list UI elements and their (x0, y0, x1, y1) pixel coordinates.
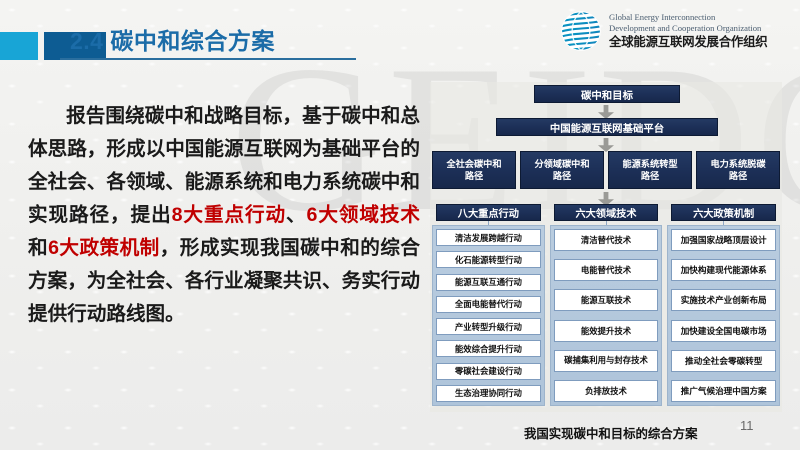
diagram-column-actions: 八大重点行动 清洁发展跨越行动 化石能源转型行动 能源互联互通行动 全面电能替代… (432, 204, 545, 406)
list-item: 加快建设全国电碳市场 (671, 320, 776, 342)
logo-chinese-name: 全球能源互联网发展合作组织 (609, 35, 767, 50)
paragraph-highlight-policies: 6大政策机制 (48, 237, 160, 259)
figure-caption: 我国实现碳中和目标的综合方案 (524, 424, 697, 442)
diagram-column-technologies: 六大领域技术 清洁替代技术 电能替代技术 能源互联技术 能效提升技术 碳捕集利用… (550, 204, 663, 406)
list-item: 零碳社会建设行动 (436, 363, 541, 380)
list-item: 加强国家战略顶层设计 (671, 229, 776, 251)
title-underline-rule (60, 58, 356, 60)
page-title: 2.4 碳中和综合方案 (70, 22, 275, 56)
arrow-down-icon (598, 105, 614, 119)
list-item: 生态治理协同行动 (436, 385, 541, 402)
body-paragraph: 报告围绕碳中和战略目标，基于碳中和总体思路，形成以中国能源互联网为基础平台的全社… (28, 100, 420, 331)
diagram-node-path: 电力系统脱碳路径 (696, 151, 780, 189)
page-number: 11 (740, 418, 754, 433)
list-item: 加快构建现代能源体系 (671, 259, 776, 281)
path-label-line1: 能源系统转型 (622, 158, 677, 170)
diagram-path-row: 全社会碳中和路径 分领域碳中和路径 能源系统转型路径 电力系统脱碳路径 (432, 151, 780, 189)
path-label-line1: 电力系统脱碳 (710, 158, 765, 170)
header-accent-square-light (0, 32, 38, 60)
diagram-node-path: 分领域碳中和路径 (520, 151, 604, 189)
list-item: 推广气候治理中国方案 (671, 380, 776, 402)
paragraph-highlight-actions: 8大重点行动 (172, 204, 286, 226)
arrow-down-icon (598, 138, 614, 152)
list-item: 能源互联技术 (554, 289, 659, 311)
list-item: 化石能源转型行动 (436, 251, 541, 268)
path-label-line2: 路径 (710, 170, 765, 182)
path-label-line2: 路径 (622, 170, 677, 182)
path-label-line1: 分领域碳中和 (534, 158, 589, 170)
diagram-column-policies: 六大政策机制 加强国家战略顶层设计 加快构建现代能源体系 实施技术产业创新布局 … (667, 204, 780, 406)
column-items-actions: 清洁发展跨越行动 化石能源转型行动 能源互联互通行动 全面电能替代行动 产业转型… (432, 225, 545, 406)
list-item: 电能替代技术 (554, 259, 659, 281)
list-item: 能效提升技术 (554, 320, 659, 342)
list-item: 能效综合提升行动 (436, 340, 541, 357)
list-item: 实施技术产业创新布局 (671, 289, 776, 311)
column-header-technologies: 六大领域技术 (554, 204, 659, 221)
list-item: 产业转型升级行动 (436, 318, 541, 335)
organization-logo: Global Energy Interconnection Developmen… (560, 8, 794, 54)
column-header-actions: 八大重点行动 (436, 204, 541, 221)
list-item: 能源互联互通行动 (436, 274, 541, 291)
globe-icon (560, 10, 602, 52)
list-item: 负排放技术 (554, 380, 659, 402)
list-item: 全面电能替代行动 (436, 296, 541, 313)
diagram-node-path: 能源系统转型路径 (608, 151, 692, 189)
column-items-policies: 加强国家战略顶层设计 加快构建现代能源体系 实施技术产业创新布局 加快建设全国电… (667, 225, 780, 406)
column-items-technologies: 清洁替代技术 电能替代技术 能源互联技术 能效提升技术 碳捕集利用与封存技术 负… (550, 225, 663, 406)
logo-english-line1: Global Energy Interconnection (609, 12, 767, 23)
diagram-columns: 八大重点行动 清洁发展跨越行动 化石能源转型行动 能源互联互通行动 全面电能替代… (432, 204, 780, 406)
list-item: 推动全社会零碳转型 (671, 350, 776, 372)
slide-canvas: GEIDCO 2.4 碳中和综合方案 (0, 0, 800, 450)
diagram-panel: 碳中和目标 中国能源互联网基础平台 全社会碳中和路径 分领域碳中和路径 能源系统… (430, 82, 782, 412)
path-label-line1: 全社会碳中和 (446, 158, 501, 170)
list-item: 碳捕集利用与封存技术 (554, 350, 659, 372)
diagram-node-platform: 中国能源互联网基础平台 (496, 118, 718, 136)
list-item: 清洁发展跨越行动 (436, 229, 541, 246)
logo-text-block: Global Energy Interconnection Developmen… (609, 12, 767, 49)
paragraph-highlight-technologies: 6大领域技术 (307, 204, 420, 226)
paragraph-segment: 和 (28, 237, 48, 259)
paragraph-segment: 、 (286, 204, 307, 226)
path-label-line2: 路径 (446, 170, 501, 182)
list-item: 清洁替代技术 (554, 229, 659, 251)
logo-english-line2: Development and Cooperation Organization (609, 23, 767, 34)
diagram-node-goal: 碳中和目标 (534, 85, 680, 103)
column-header-policies: 六大政策机制 (671, 204, 776, 221)
path-label-line2: 路径 (534, 170, 589, 182)
diagram-node-path: 全社会碳中和路径 (432, 151, 516, 189)
